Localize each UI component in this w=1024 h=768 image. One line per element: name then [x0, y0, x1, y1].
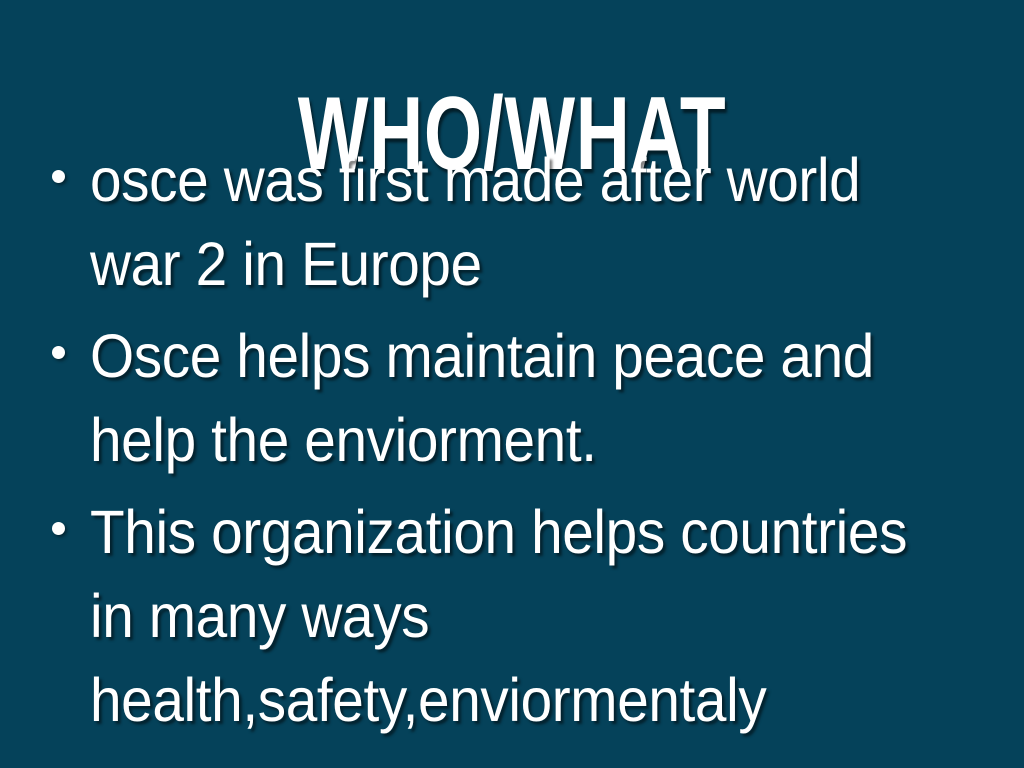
list-item: This organization helps countries in man…	[44, 490, 1024, 742]
bullet-dot-icon	[52, 522, 65, 535]
bullet-list: osce was first made after world war 2 in…	[44, 138, 1024, 750]
bullet-dot-icon	[52, 346, 65, 359]
list-item-label: This organization helps countries in man…	[90, 490, 959, 742]
presentation-slide: WHO/WHAT osce was first made after world…	[0, 0, 1024, 768]
bullet-dot-icon	[52, 170, 65, 183]
list-item-label: osce was first made after world war 2 in…	[90, 138, 959, 306]
list-item: Osce helps maintain peace and help the e…	[44, 314, 1024, 482]
list-item: osce was first made after world war 2 in…	[44, 138, 1024, 306]
list-item-label: Osce helps maintain peace and help the e…	[90, 314, 959, 482]
